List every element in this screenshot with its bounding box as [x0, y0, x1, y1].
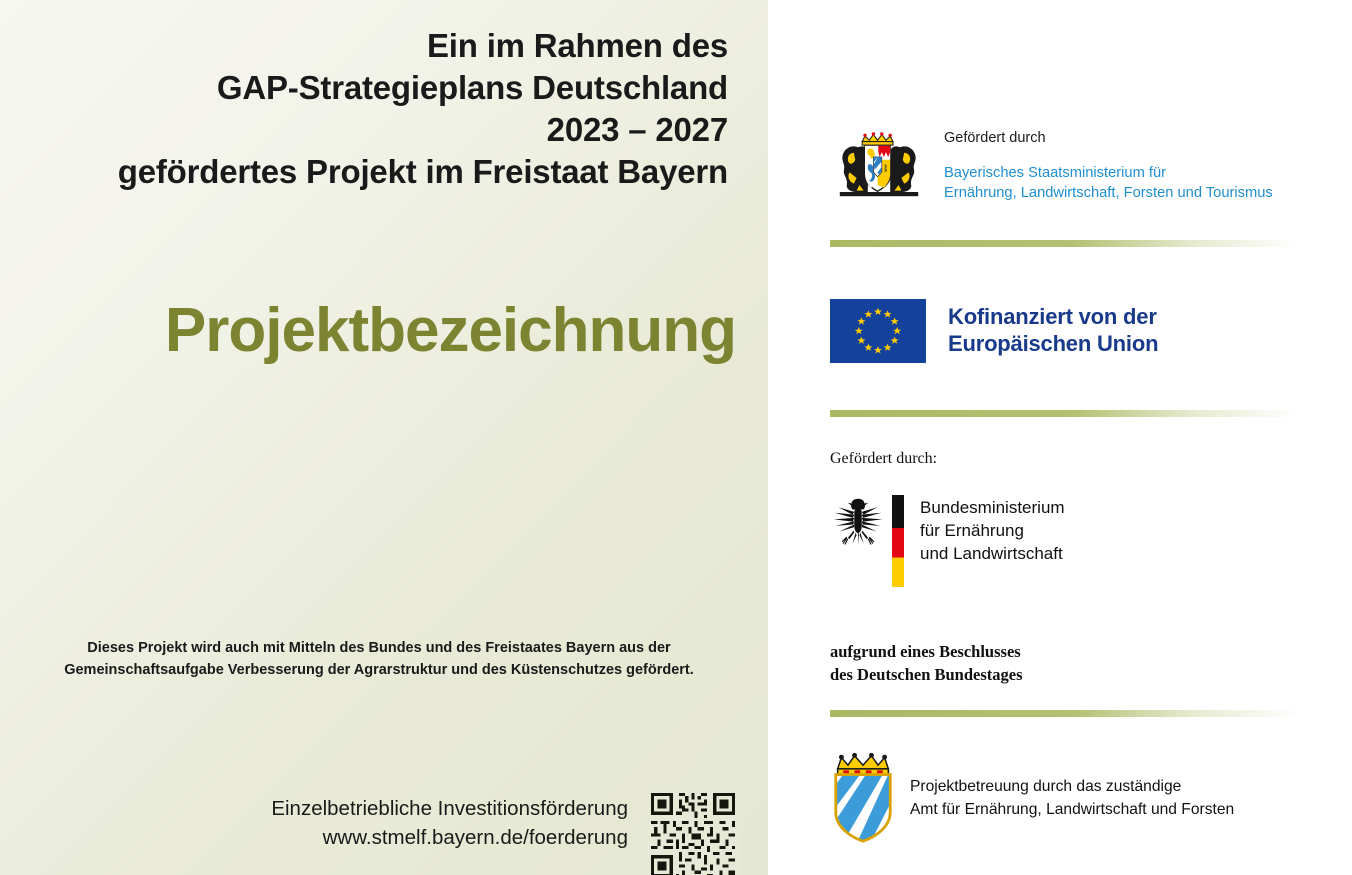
divider-3 [830, 710, 1300, 717]
sponsor-bmel: Bundesministerium für Ernährung und Land… [830, 495, 1065, 587]
bundesadler-eagle-icon [830, 495, 886, 553]
bavarian-funding-kicker: Gefördert durch [944, 130, 1273, 146]
bavarian-ministry-name: Bayerisches Staatsministerium für Ernähr… [944, 164, 1273, 203]
eu-cofunding-text: Kofinanziert von der Europäischen Union [948, 304, 1158, 358]
eu-cofunding-line-2: Europäischen Union [948, 331, 1158, 358]
headline-line-3: 2023 – 2027 [0, 109, 728, 151]
bavarian-ministry-name-line-1: Bayerisches Staatsministerium für [944, 164, 1273, 184]
bavarian-state-coat-of-arms-icon [830, 128, 928, 200]
headline-line-4: gefördertes Projekt im Freistaat Bayern [0, 151, 728, 193]
headline-line-2: GAP-Strategieplans Deutschland [0, 67, 728, 109]
bavarian-shield-icon [830, 752, 896, 844]
bavarian-ministry-name-line-2: Ernährung, Landwirtschaft, Forsten und T… [944, 184, 1273, 204]
divider-1 [830, 240, 1300, 247]
qr-code[interactable] [648, 790, 738, 875]
eu-flag-icon [830, 299, 926, 363]
page-title: Projektbezeichnung [0, 300, 736, 362]
left-panel: Ein im Rahmen des GAP-Strategieplans Deu… [0, 0, 768, 875]
bmel-name-line-3: und Landwirtschaft [920, 542, 1065, 565]
aelf-text: Projektbetreuung durch das zuständige Am… [910, 774, 1234, 821]
website-url[interactable]: www.stmelf.bayern.de/foerderung [271, 823, 628, 852]
divider-2 [830, 410, 1300, 417]
bavarian-ministry-texts: Gefördert durch Bayerisches Staatsminist… [944, 128, 1273, 203]
sponsor-european-union: Kofinanziert von der Europäischen Union [830, 299, 1158, 363]
federal-funding-note-line-1: Dieses Projekt wird auch mit Mitteln des… [20, 637, 738, 659]
bundestag-resolution-note: aufgrund eines Beschlusses des Deutschen… [830, 641, 1023, 687]
bundestag-note-line-2: des Deutschen Bundestages [830, 664, 1023, 687]
program-name: Einzelbetriebliche Investitionsförderung [271, 794, 628, 823]
bmel-name-line-1: Bundesministerium [920, 496, 1065, 519]
bmel-name-line-2: für Ernährung [920, 519, 1065, 542]
footer-text: Einzelbetriebliche Investitionsförderung… [271, 790, 628, 852]
headline-line-1: Ein im Rahmen des [0, 25, 728, 67]
aelf-line-1: Projektbetreuung durch das zuständige [910, 776, 1234, 799]
sponsor-bavarian-ministry: Gefördert durch Bayerisches Staatsminist… [830, 128, 1273, 203]
right-panel: Gefördert durch Bayerisches Staatsminist… [768, 0, 1352, 875]
german-flag-bar [892, 495, 904, 587]
qr-code-icon [648, 790, 738, 875]
poster-root: Ein im Rahmen des GAP-Strategieplans Deu… [0, 0, 1352, 875]
bmel-name: Bundesministerium für Ernährung und Land… [920, 495, 1065, 565]
aelf-line-2: Amt für Ernährung, Landwirtschaft und Fo… [910, 799, 1234, 822]
sponsor-aelf: Projektbetreuung durch das zuständige Am… [830, 752, 1234, 844]
headline: Ein im Rahmen des GAP-Strategieplans Deu… [0, 25, 728, 193]
footer-block: Einzelbetriebliche Investitionsförderung… [0, 790, 738, 875]
bundestag-note-line-1: aufgrund eines Beschlusses [830, 641, 1023, 664]
federal-funding-note: Dieses Projekt wird auch mit Mitteln des… [20, 637, 738, 682]
federal-funding-note-line-2: Gemeinschaftsaufgabe Verbesserung der Ag… [20, 659, 738, 681]
bmel-funding-kicker: Gefördert durch: [830, 450, 937, 468]
eu-cofunding-line-1: Kofinanziert von der [948, 304, 1158, 331]
